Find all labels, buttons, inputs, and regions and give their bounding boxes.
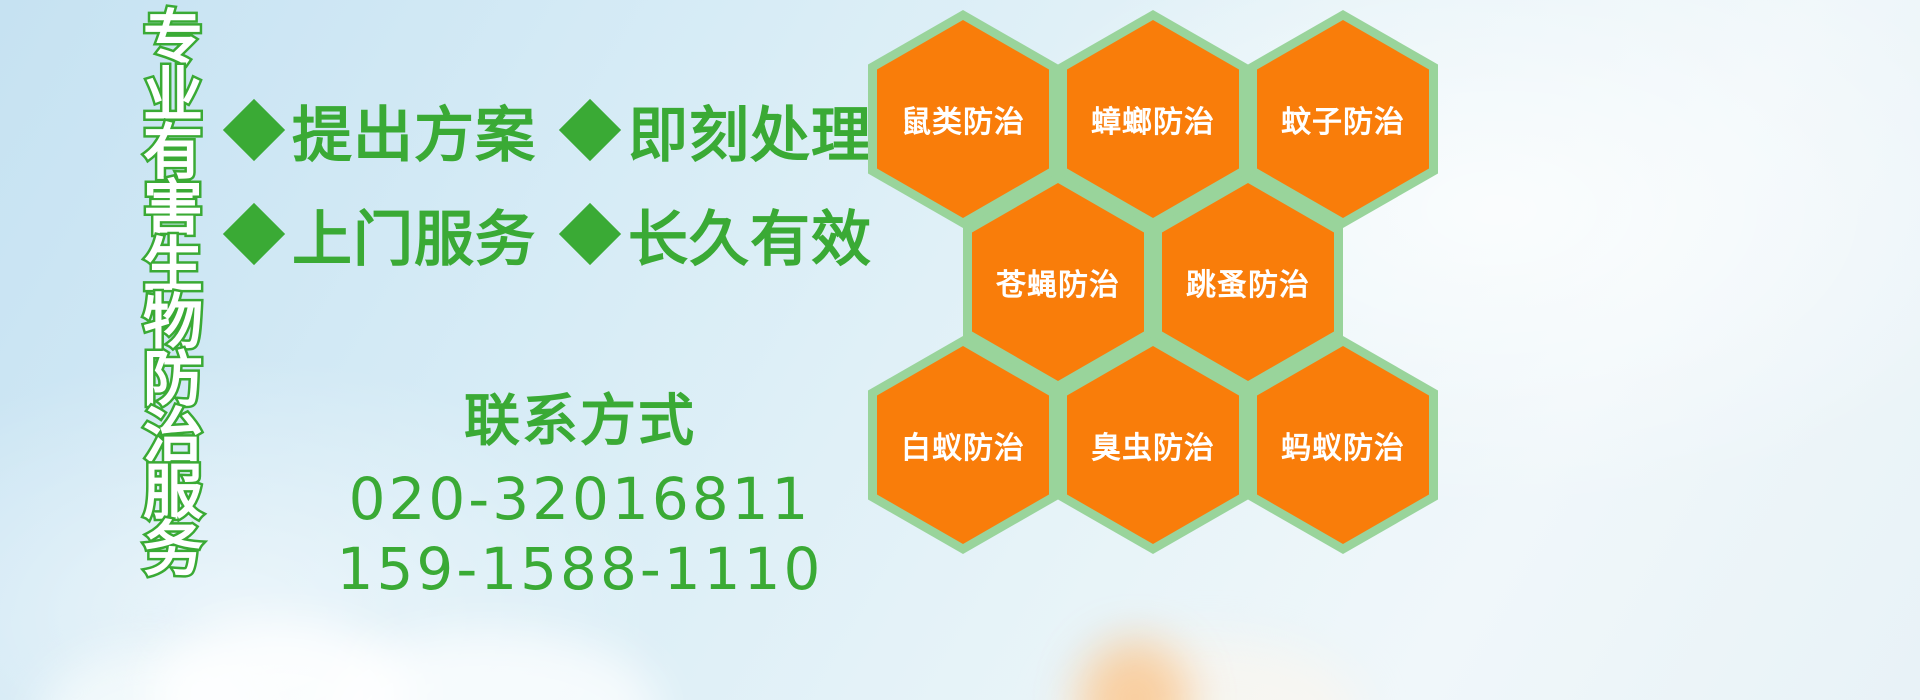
hex-inner: 鼠类防治: [877, 20, 1049, 218]
vertical-headline: 专 业 有 害 生 物 防 治 服 务: [118, 10, 228, 578]
contact-block: 联系方式 020-32016811 159-1588-1110: [270, 390, 890, 605]
feature-row: 提出方案 即刻处理: [232, 78, 872, 182]
vertical-headline-char: 有: [143, 124, 203, 183]
feature-list: 提出方案 即刻处理 上门服务 长久有效: [232, 78, 872, 286]
contact-phone-landline[interactable]: 020-32016811: [270, 464, 890, 535]
hex-label: 臭虫防治: [1091, 423, 1215, 467]
hex-label: 蚂蚁防治: [1281, 423, 1405, 467]
pest-control-banner: 专 业 有 害 生 物 防 治 服 务 提出方案 即刻处理 上门服务: [0, 0, 1920, 700]
background-blur-blob: [320, 630, 660, 700]
hex-label: 苍蝇防治: [996, 260, 1120, 304]
background-blur-blob: [1060, 640, 1360, 700]
hex-label: 白蚁防治: [901, 423, 1025, 467]
contact-title: 联系方式: [270, 390, 890, 452]
hex-label: 鼠类防治: [901, 97, 1025, 141]
diamond-icon: [223, 203, 285, 265]
vertical-headline-char: 业: [143, 67, 203, 126]
diamond-icon: [559, 203, 621, 265]
hex-inner: 蟑螂防治: [1067, 20, 1239, 218]
feature-item-propose-plan: 提出方案: [232, 87, 536, 174]
background-orange-blob: [1080, 640, 1190, 700]
hex-label: 跳蚤防治: [1186, 260, 1310, 304]
feature-row: 上门服务 长久有效: [232, 182, 872, 286]
feature-item-immediate-handling: 即刻处理: [568, 87, 872, 174]
hex-inner: 蚂蚁防治: [1257, 346, 1429, 544]
vertical-headline-char: 治: [143, 408, 203, 467]
feature-label: 上门服务: [292, 191, 536, 278]
service-honeycomb: 鼠类防治 蟑螂防治 蚊子防治 苍蝇防治 跳蚤防治 白蚁防治: [862, 0, 1462, 560]
feature-label: 提出方案: [292, 87, 536, 174]
feature-item-onsite-service: 上门服务: [232, 191, 536, 278]
feature-label: 即刻处理: [628, 87, 872, 174]
vertical-headline-char: 专: [143, 10, 203, 69]
vertical-headline-char: 物: [143, 294, 203, 353]
background-blur-blob: [150, 620, 410, 700]
hex-label: 蟑螂防治: [1091, 97, 1215, 141]
contact-phone-mobile[interactable]: 159-1588-1110: [270, 534, 890, 605]
diamond-icon: [223, 99, 285, 161]
vertical-headline-char: 务: [143, 521, 203, 580]
hex-inner: 白蚁防治: [877, 346, 1049, 544]
hex-inner: 臭虫防治: [1067, 346, 1239, 544]
vertical-headline-char: 生: [143, 237, 203, 296]
feature-label: 长久有效: [628, 191, 872, 278]
hex-inner: 苍蝇防治: [972, 183, 1144, 381]
feature-item-long-lasting: 长久有效: [568, 191, 872, 278]
background-blur-blob: [40, 650, 260, 700]
hex-inner: 蚊子防治: [1257, 20, 1429, 218]
vertical-headline-char: 防: [143, 351, 203, 410]
vertical-headline-char: 害: [143, 180, 203, 239]
diamond-icon: [559, 99, 621, 161]
vertical-headline-char: 服: [143, 464, 203, 523]
hex-label: 蚊子防治: [1281, 97, 1405, 141]
hex-inner: 跳蚤防治: [1162, 183, 1334, 381]
